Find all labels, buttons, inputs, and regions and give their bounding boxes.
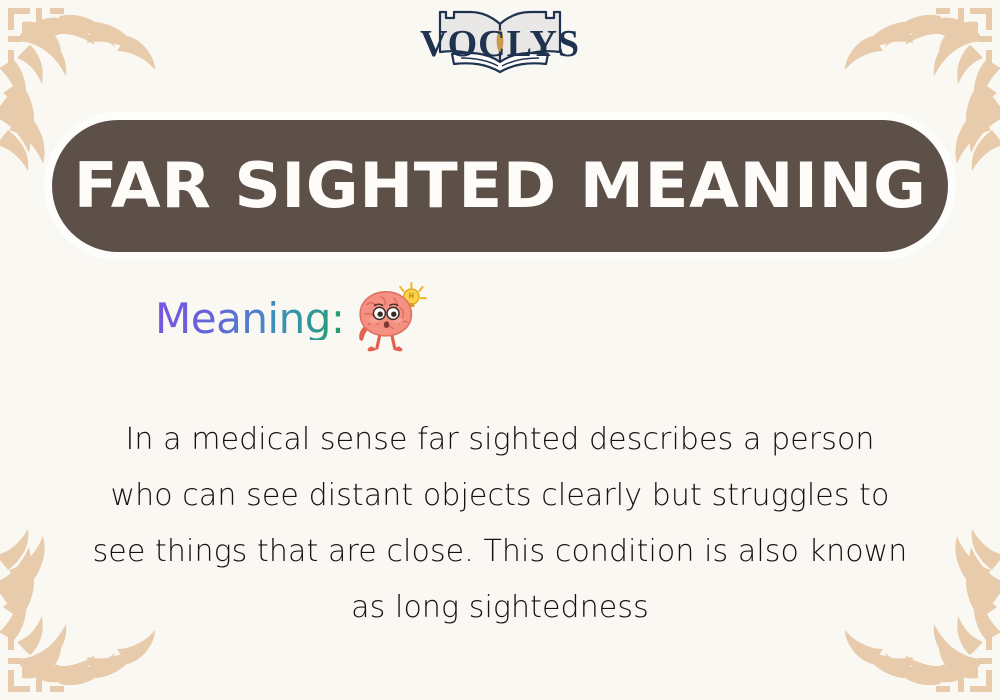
meaning-label: Meaning:	[155, 298, 345, 340]
brand-name: VOCLYS	[405, 8, 595, 74]
brand-logo: VOCLYS	[0, 6, 1000, 76]
vocabulary-definition-card: VOCLYS FAR SIGHTED MEANING Meaning:	[0, 0, 1000, 700]
page-title: FAR SIGHTED MEANING	[74, 155, 927, 217]
brain-lightbulb-emoji	[349, 279, 429, 359]
definition-text: In a medical sense far sighted describes…	[90, 412, 910, 636]
title-banner: FAR SIGHTED MEANING	[44, 112, 956, 260]
meaning-heading-row: Meaning:	[155, 284, 429, 354]
